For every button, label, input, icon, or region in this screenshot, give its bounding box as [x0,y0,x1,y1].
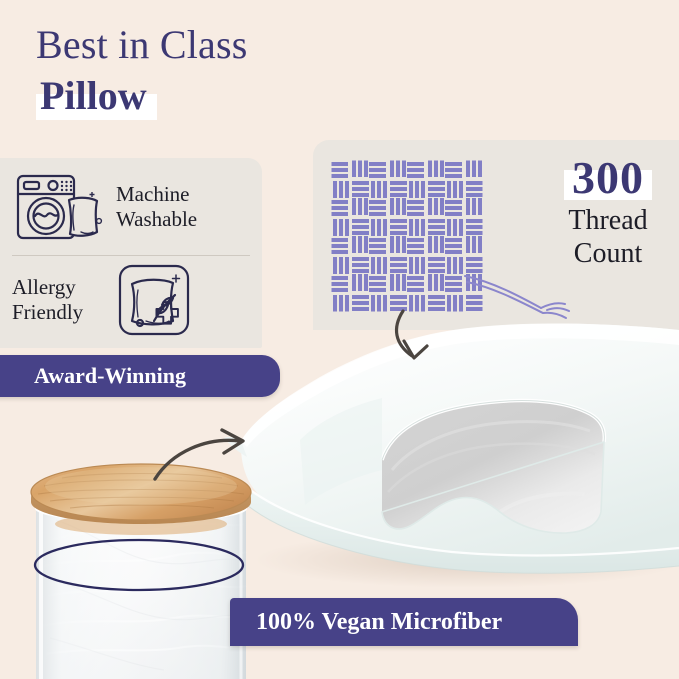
product-infographic: Best in Class Pillow [0,0,679,679]
thread-word-2: Count [533,237,679,270]
feature-allergy-friendly: Allergy Friendly [12,262,252,338]
thread-word-1: Thread [533,204,679,237]
curved-arrow-up-right-icon [155,430,243,479]
thread-count-panel: 300 Thread Count [313,140,679,330]
thread-number-wrapper: 300 [564,152,652,204]
title-line-2: Pillow [40,74,147,118]
washing-machine-icon [12,170,104,244]
feature-label-line-1: Allergy [12,275,116,300]
basketweave-fabric-swatch [331,160,483,312]
feature-label-machine-washable: Machine Washable [116,182,197,232]
page-title: Best in Class Pillow [36,22,336,120]
thread-count-text: 300 Thread Count [533,152,679,270]
title-line-1: Best in Class [36,22,336,68]
feature-machine-washable: Machine Washable [12,170,252,244]
allergy-pillow-feather-icon [116,262,192,338]
feature-label-line-1: Machine [116,182,197,207]
feature-label-allergy-friendly: Allergy Friendly [12,275,116,325]
feature-label-line-2: Washable [116,207,197,232]
award-winning-label: Award-Winning [34,363,186,389]
thread-count-number: 300 [572,152,644,204]
vegan-microfiber-banner: 100% Vegan Microfiber [230,598,578,646]
title-line-2-wrapper: Pillow [36,74,157,120]
feature-label-line-2: Friendly [12,300,116,325]
panel-divider [12,255,250,256]
features-panel: Machine Washable Allergy Friendly [0,158,262,348]
vegan-microfiber-label: 100% Vegan Microfiber [256,609,502,636]
award-winning-banner: Award-Winning [0,355,280,397]
